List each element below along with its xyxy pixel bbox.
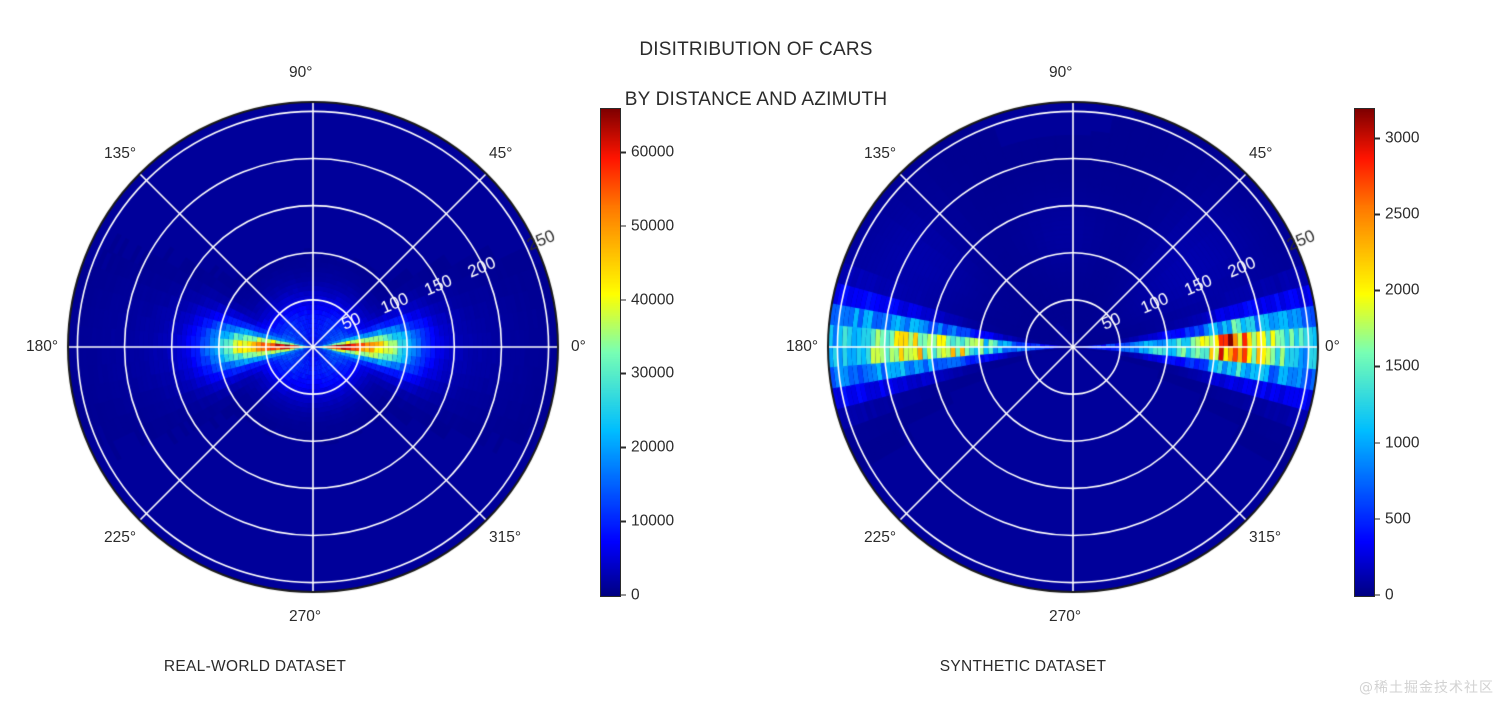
colorbar-tick: 500 xyxy=(1374,518,1411,519)
colorbar-tick-dash xyxy=(620,520,626,522)
colorbar-tick-dash xyxy=(1374,594,1380,596)
colorbar-ticks-synthetic: 050010001500200025003000 xyxy=(1374,108,1494,595)
colorbar-tick-label: 40000 xyxy=(631,292,674,308)
panel-synthetic: 90° 135° 45° 180° 0° 225° 315° 270° 0500… xyxy=(760,0,1512,715)
angle-label-135-right: 135° xyxy=(864,146,896,162)
colorbar-tick-dash xyxy=(620,594,626,596)
colorbar-tick-label: 1500 xyxy=(1385,359,1419,375)
colorbar-gradient-real-world xyxy=(600,108,621,597)
colorbar-tick-label: 30000 xyxy=(631,366,674,382)
colorbar-tick-dash xyxy=(1374,214,1380,216)
colorbar-gradient-synthetic xyxy=(1354,108,1375,597)
colorbar-tick-dash xyxy=(620,373,626,375)
figure-canvas: DISITRIBUTION OF CARS BY DISTANCE AND AZ… xyxy=(0,0,1512,715)
colorbar-tick: 60000 xyxy=(620,152,674,153)
angle-label-225-right: 225° xyxy=(864,530,896,546)
colorbar-tick-dash xyxy=(620,225,626,227)
colorbar-tick-label: 3000 xyxy=(1385,131,1419,147)
colorbar-tick-dash xyxy=(1374,366,1380,368)
colorbar-tick-dash xyxy=(620,299,626,301)
colorbar-tick-label: 10000 xyxy=(631,513,674,529)
colorbar-tick: 1000 xyxy=(1374,442,1419,443)
colorbar-tick-label: 500 xyxy=(1385,511,1411,527)
angle-label-0-right: 0° xyxy=(1325,339,1340,355)
angle-label-315-right: 315° xyxy=(1249,530,1281,546)
polar-plot-synthetic[interactable] xyxy=(826,100,1320,594)
colorbar-tick: 10000 xyxy=(620,521,674,522)
angle-label-315-left: 315° xyxy=(489,530,521,546)
panel-real-world: 90° 135° 45° 180° 0° 225° 315° 270° 0100… xyxy=(0,0,760,715)
angle-label-225-left: 225° xyxy=(104,530,136,546)
colorbar-ticks-real-world: 0100002000030000400005000060000 xyxy=(620,108,740,595)
angle-label-135-left: 135° xyxy=(104,146,136,162)
colorbar-tick: 2500 xyxy=(1374,214,1419,215)
angle-label-0-left: 0° xyxy=(571,339,586,355)
colorbar-tick-dash xyxy=(1374,518,1380,520)
colorbar-tick-label: 20000 xyxy=(631,440,674,456)
colorbar-tick-label: 2000 xyxy=(1385,283,1419,299)
colorbar-tick-label: 0 xyxy=(631,587,640,603)
colorbar-tick-dash xyxy=(1374,442,1380,444)
colorbar-tick-label: 60000 xyxy=(631,145,674,161)
colorbar-tick-dash xyxy=(1374,290,1380,292)
angle-label-270-right: 270° xyxy=(1049,609,1081,625)
colorbar-tick: 2000 xyxy=(1374,290,1419,291)
colorbar-tick: 3000 xyxy=(1374,138,1419,139)
colorbar-tick: 50000 xyxy=(620,226,674,227)
angle-label-180-left: 180° xyxy=(26,339,58,355)
angle-label-270-left: 270° xyxy=(289,609,321,625)
colorbar-tick-label: 50000 xyxy=(631,218,674,234)
colorbar-synthetic[interactable]: 050010001500200025003000 xyxy=(1354,108,1375,597)
colorbar-tick-dash xyxy=(1374,138,1380,140)
colorbar-tick: 40000 xyxy=(620,299,674,300)
angle-label-45-right: 45° xyxy=(1249,146,1272,162)
colorbar-tick-dash xyxy=(620,447,626,449)
colorbar-tick-label: 2500 xyxy=(1385,207,1419,223)
watermark: @稀土掘金技术社区 xyxy=(1359,677,1494,697)
colorbar-real-world[interactable]: 0100002000030000400005000060000 xyxy=(600,108,621,597)
colorbar-tick-label: 0 xyxy=(1385,587,1394,603)
polar-heatmap-canvas-real-world[interactable] xyxy=(66,100,560,594)
angle-label-180-right: 180° xyxy=(786,339,818,355)
angle-label-90-right: 90° xyxy=(1049,65,1072,81)
colorbar-tick: 0 xyxy=(620,595,640,596)
angle-label-90-left: 90° xyxy=(289,65,312,81)
polar-plot-real-world[interactable] xyxy=(66,100,560,594)
colorbar-tick-label: 1000 xyxy=(1385,435,1419,451)
polar-heatmap-canvas-synthetic[interactable] xyxy=(826,100,1320,594)
colorbar-tick: 30000 xyxy=(620,373,674,374)
colorbar-tick: 20000 xyxy=(620,447,674,448)
caption-synthetic: SYNTHETIC DATASET xyxy=(647,658,1399,676)
colorbar-tick-dash xyxy=(620,151,626,153)
caption-real-world: REAL-WORLD DATASET xyxy=(0,658,635,676)
colorbar-tick: 1500 xyxy=(1374,366,1419,367)
colorbar-tick: 0 xyxy=(1374,595,1394,596)
angle-label-45-left: 45° xyxy=(489,146,512,162)
